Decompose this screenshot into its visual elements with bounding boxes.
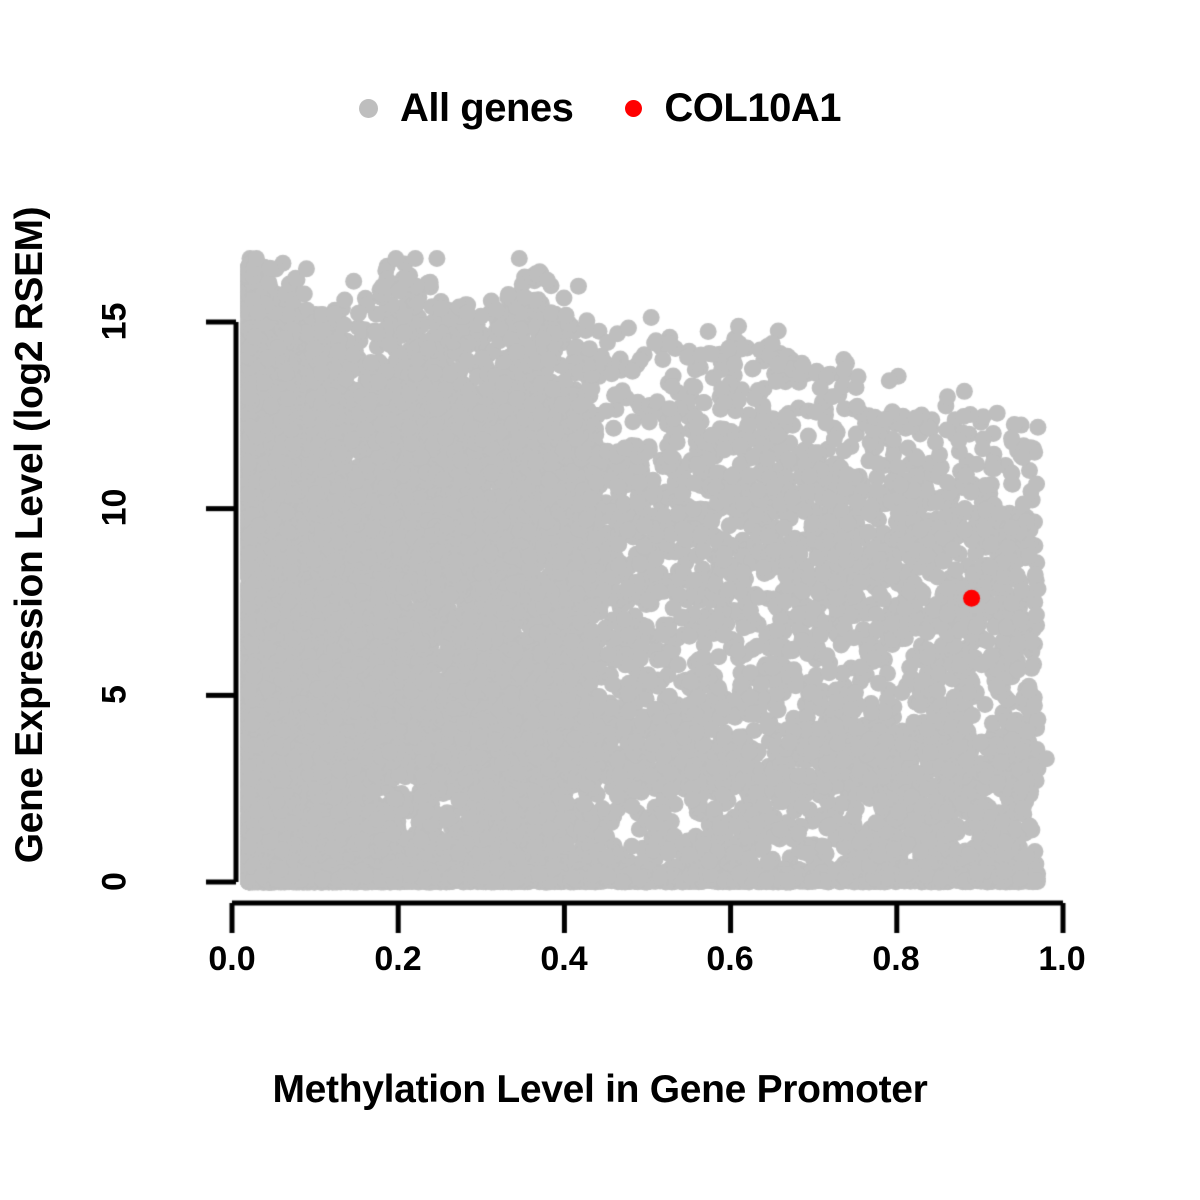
- scatter-plot-figure: All genes COL10A1 Gene Expression Level …: [0, 0, 1200, 1200]
- legend-entry-col10a1: COL10A1: [625, 86, 841, 131]
- y-tick-label: 10: [96, 448, 135, 568]
- y-tick-label: 5: [96, 635, 135, 755]
- legend-label-all-genes: All genes: [400, 86, 573, 131]
- y-axis-title: Gene Expression Level (log2 RSEM): [0, 0, 60, 1135]
- x-tick-label: 0.4: [504, 940, 624, 979]
- x-tick-label: 0.6: [670, 940, 790, 979]
- legend: All genes COL10A1: [0, 78, 1200, 138]
- legend-entry-all-genes: All genes: [359, 86, 573, 131]
- y-tick-label: 15: [96, 262, 135, 382]
- scatter-plot-canvas: [0, 0, 1200, 1200]
- x-axis-title: Methylation Level in Gene Promoter: [0, 1068, 1200, 1112]
- x-tick-label: 1.0: [1002, 940, 1122, 979]
- legend-marker-circle-icon: [625, 100, 642, 117]
- legend-marker-circle-icon: [359, 99, 378, 118]
- x-tick-label: 0.0: [172, 940, 292, 979]
- x-tick-label: 0.2: [338, 940, 458, 979]
- legend-label-col10a1: COL10A1: [664, 86, 841, 131]
- y-tick-label: 0: [96, 822, 135, 942]
- x-tick-label: 0.8: [836, 940, 956, 979]
